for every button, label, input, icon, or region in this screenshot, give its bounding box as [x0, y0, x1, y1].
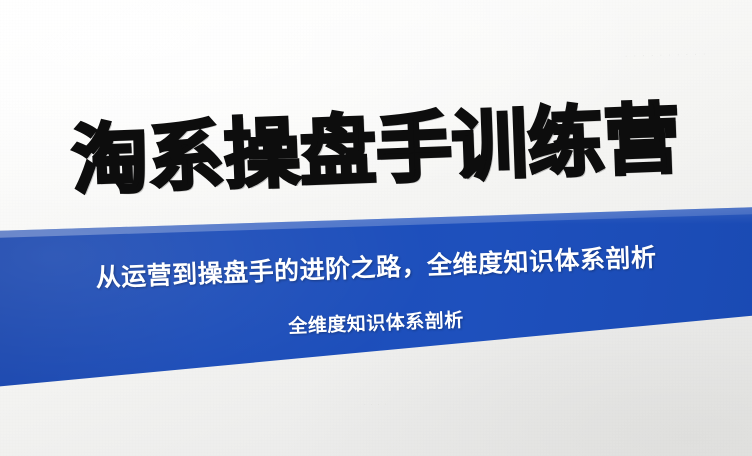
course-poster: 淘系操盘手训练营 从运营到操盘手的进阶之路，全维度知识体系剖析 全维度知识体系剖…	[0, 0, 752, 456]
subtitle-layer: 从运营到操盘手的进阶之路，全维度知识体系剖析 全维度知识体系剖析	[0, 0, 752, 456]
poster-subtitle-primary: 从运营到操盘手的进阶之路，全维度知识体系剖析	[95, 238, 657, 295]
poster-subtitle-secondary: 全维度知识体系剖析	[288, 305, 464, 338]
